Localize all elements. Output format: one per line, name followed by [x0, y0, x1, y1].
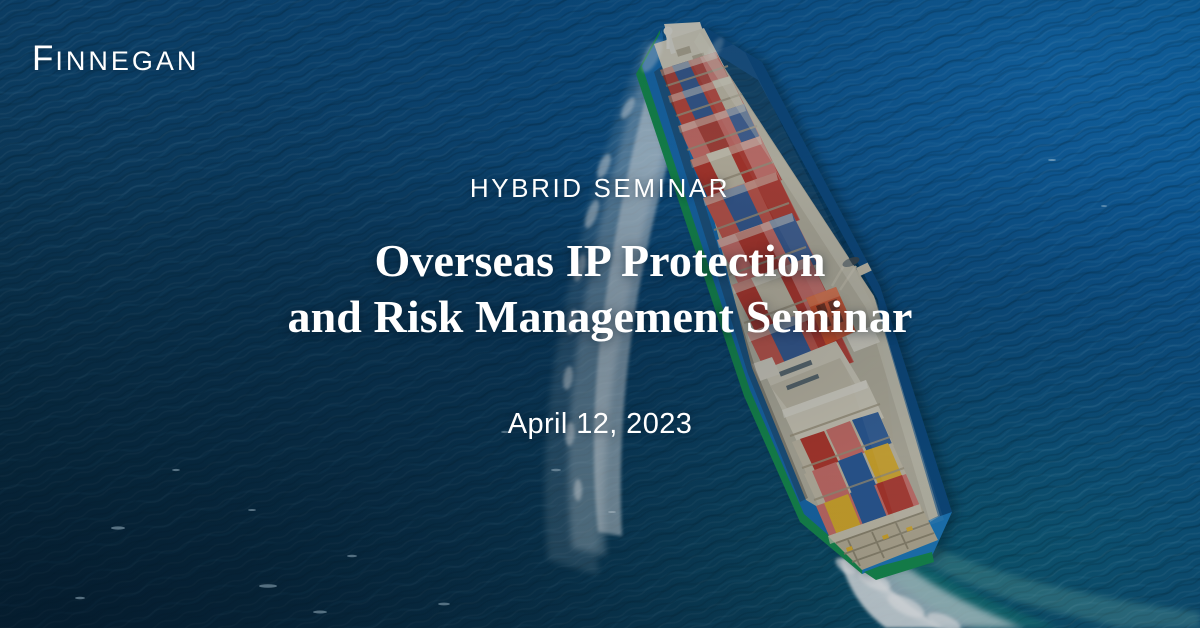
- event-type-eyebrow: HYBRID SEMINAR: [470, 174, 730, 203]
- page-title: Overseas IP Protection and Risk Manageme…: [287, 233, 912, 345]
- banner-text-block: HYBRID SEMINAR Overseas IP Protection an…: [0, 0, 1200, 628]
- event-banner: FINNEGAN HYBRID SEMINAR Overseas IP Prot…: [0, 0, 1200, 628]
- title-line-1: Overseas IP Protection: [374, 235, 825, 286]
- title-line-2: and Risk Management Seminar: [287, 289, 912, 345]
- event-date: April 12, 2023: [508, 408, 693, 441]
